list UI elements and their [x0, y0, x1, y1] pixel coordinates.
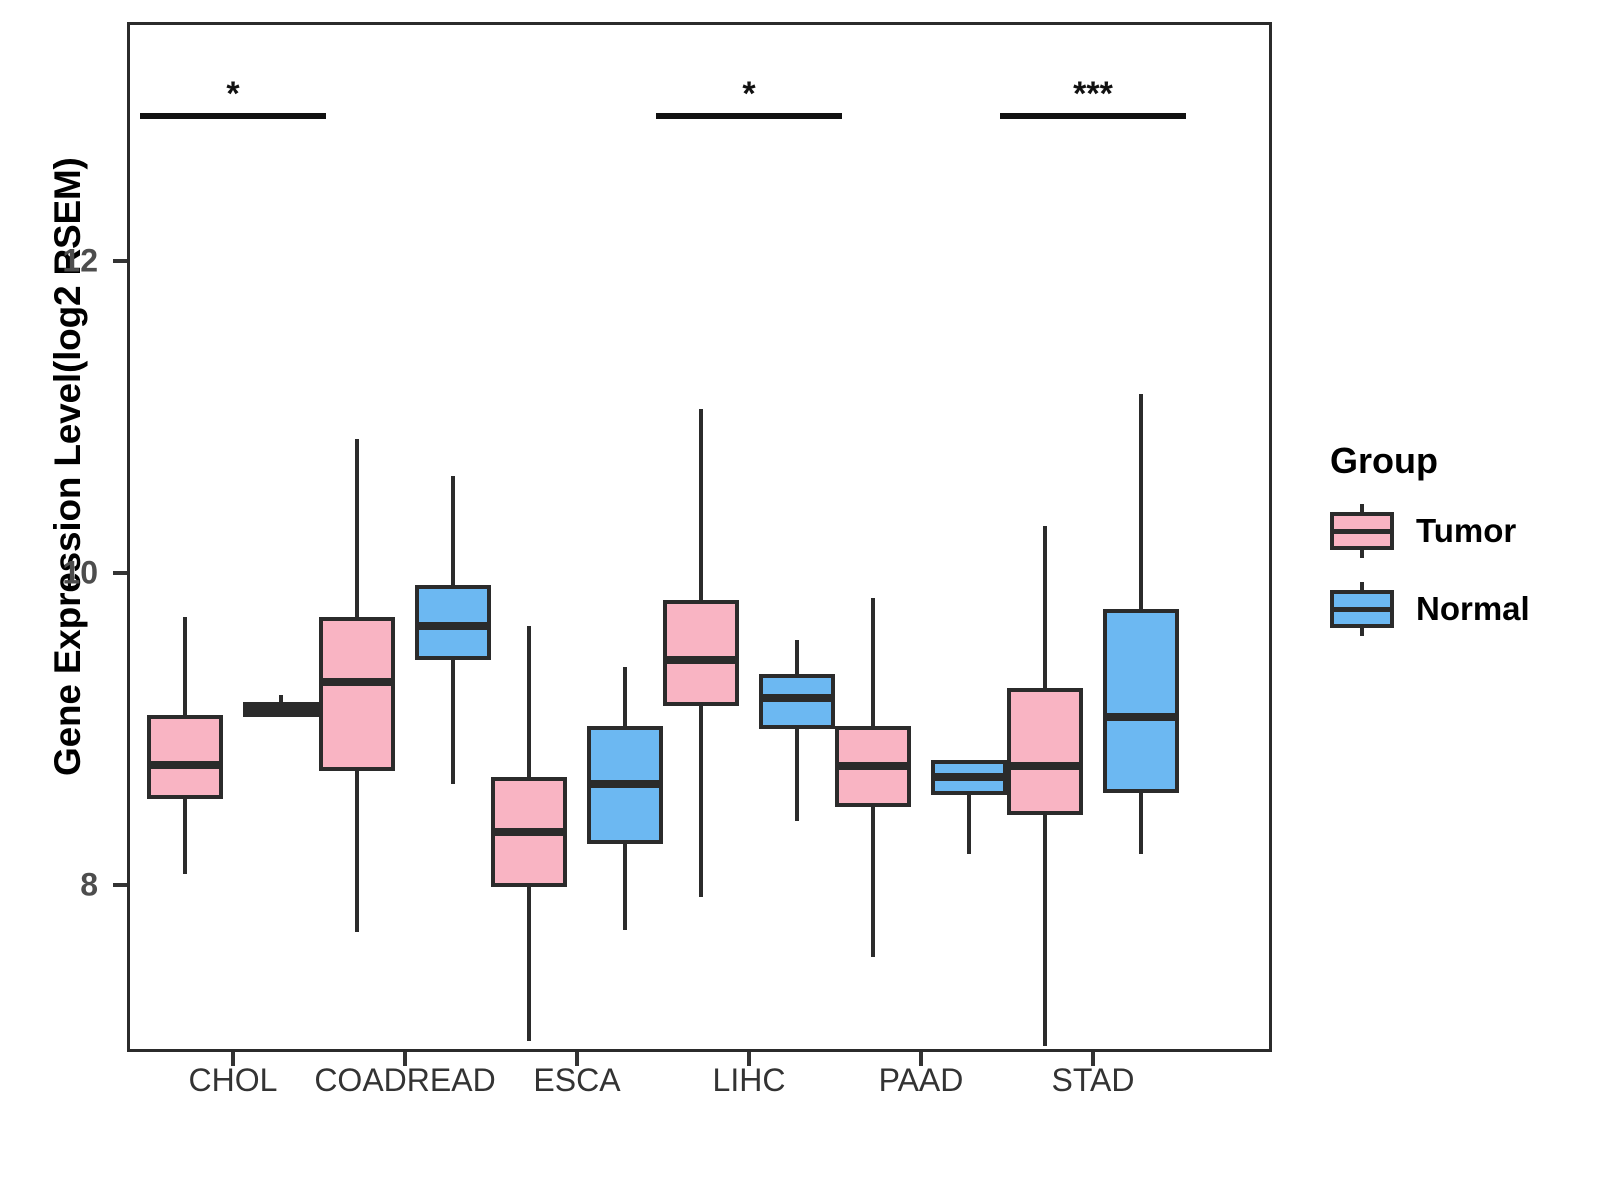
whisker-upper: [527, 626, 531, 777]
x-tick-label: ESCA: [533, 1062, 620, 1099]
median-line: [663, 656, 739, 664]
median-line: [147, 761, 223, 769]
whisker-lower: [623, 844, 627, 930]
significance-bracket: [1000, 113, 1186, 119]
y-tick-mark: [113, 259, 127, 263]
whisker-lower: [1043, 815, 1047, 1046]
median-line: [1007, 762, 1083, 770]
legend-key-icon: [1330, 582, 1394, 636]
whisker-lower: [355, 771, 359, 932]
whisker-lower: [451, 660, 455, 783]
whisker-upper: [183, 617, 187, 715]
whisker-lower: [699, 706, 703, 898]
chart-root: Gene Expression Level(log2 RSEM) 81012 *…: [0, 0, 1600, 1200]
whisker-upper: [871, 598, 875, 726]
whisker-lower: [183, 799, 187, 874]
whisker-upper: [451, 476, 455, 585]
whisker-lower: [871, 807, 875, 957]
whisker-lower: [527, 887, 531, 1041]
whisker-upper: [1139, 394, 1143, 609]
legend-key-icon: [1330, 504, 1394, 558]
whisker-upper: [795, 640, 799, 674]
x-tick-label: COADREAD: [314, 1062, 495, 1099]
significance-bracket: [656, 113, 842, 119]
whisker-upper: [1043, 526, 1047, 688]
box: [147, 715, 223, 799]
y-tick-mark: [113, 883, 127, 887]
x-tick-label: LIHC: [713, 1062, 786, 1099]
whisker-lower: [795, 729, 799, 821]
significance-label: *: [226, 77, 239, 111]
median-line: [1103, 713, 1179, 721]
significance-bracket: [140, 113, 326, 119]
significance-label: *: [742, 77, 755, 111]
whisker-upper: [699, 409, 703, 599]
box: [663, 600, 739, 706]
median-line: [491, 828, 567, 836]
x-tick-label: CHOL: [189, 1062, 278, 1099]
legend: Group TumorNormal: [1330, 440, 1530, 660]
y-tick-label: 10: [8, 555, 98, 592]
median-line: [587, 780, 663, 788]
median-line: [759, 694, 835, 702]
legend-title: Group: [1330, 440, 1530, 482]
whisker-upper: [623, 667, 627, 726]
whisker-upper: [279, 695, 283, 703]
significance-label: ***: [1073, 77, 1113, 111]
legend-item-label: Tumor: [1416, 512, 1516, 550]
median-line: [319, 678, 395, 686]
box: [1103, 609, 1179, 793]
x-tick-label: STAD: [1052, 1062, 1135, 1099]
x-tick-label: PAAD: [879, 1062, 964, 1099]
y-tick-mark: [113, 571, 127, 575]
median-line: [931, 773, 1007, 781]
median-line: [835, 762, 911, 770]
legend-entries: TumorNormal: [1330, 504, 1530, 636]
y-tick-label: 12: [8, 243, 98, 280]
whisker-lower: [967, 795, 971, 854]
box: [1007, 688, 1083, 814]
whisker-lower: [1139, 793, 1143, 854]
legend-item-tumor[interactable]: Tumor: [1330, 504, 1530, 558]
whisker-upper: [355, 439, 359, 617]
y-axis-title: Gene Expression Level(log2 RSEM): [47, 276, 89, 776]
box: [319, 617, 395, 771]
median-line: [243, 706, 319, 714]
median-line: [415, 622, 491, 630]
legend-item-normal[interactable]: Normal: [1330, 582, 1530, 636]
y-tick-label: 8: [8, 867, 98, 904]
legend-item-label: Normal: [1416, 590, 1530, 628]
